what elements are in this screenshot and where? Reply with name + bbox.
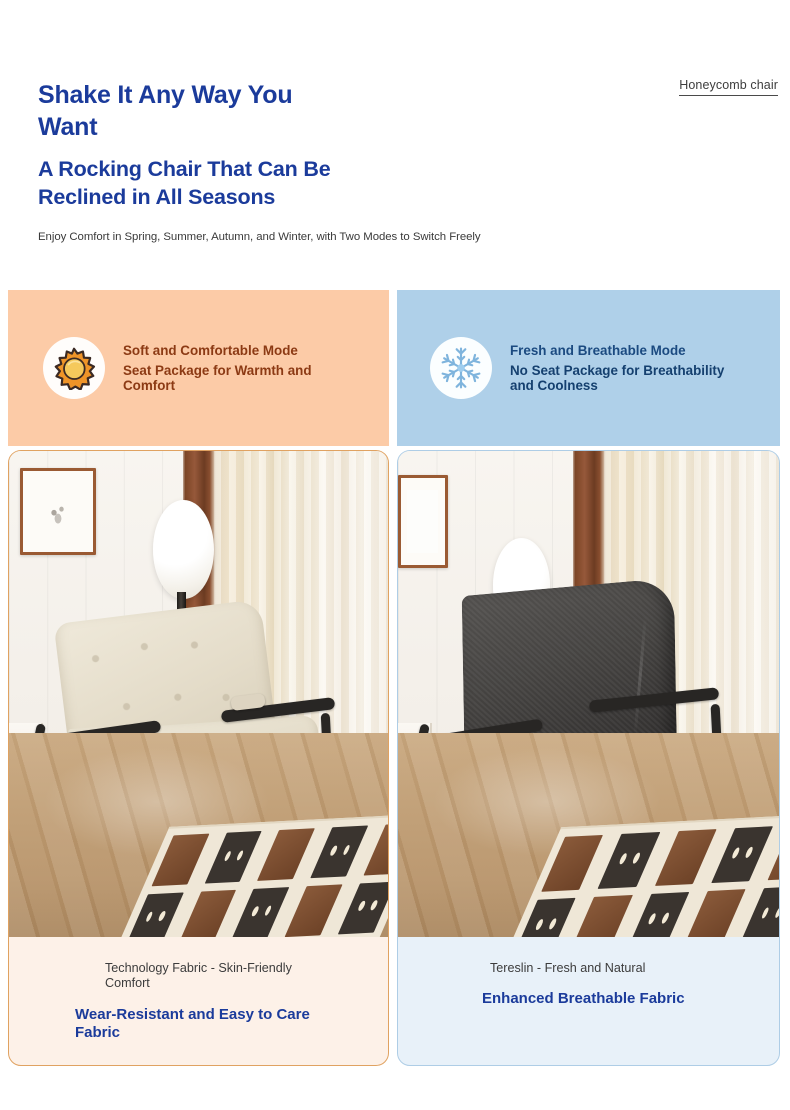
caption-title: Enhanced Breathable Fabric bbox=[482, 990, 712, 1008]
rug-tile bbox=[232, 887, 290, 937]
rug-tile bbox=[711, 827, 773, 884]
mode-text-warm: Soft and Comfortable Mode Seat Package f… bbox=[123, 343, 338, 394]
rug-tile bbox=[598, 832, 660, 889]
product-photo-mesh bbox=[398, 451, 779, 937]
rug-tile bbox=[627, 893, 689, 937]
mode-banner-group: Soft and Comfortable Mode Seat Package f… bbox=[0, 290, 790, 446]
rug-tile bbox=[364, 824, 388, 877]
caption-title: Wear-Resistant and Easy to Care Fabric bbox=[75, 1006, 335, 1042]
rug-tile bbox=[571, 895, 633, 937]
product-photo-cushioned bbox=[9, 451, 388, 937]
rug-tile bbox=[311, 826, 369, 879]
page-tagline: Enjoy Comfort in Spring, Summer, Autumn,… bbox=[38, 231, 481, 243]
rug-tile bbox=[740, 887, 779, 937]
page-title: Shake It Any Way You Want bbox=[38, 80, 338, 143]
card-caption-cushioned: Technology Fabric - Skin-Friendly Comfor… bbox=[9, 937, 388, 1066]
sun-icon bbox=[52, 346, 96, 390]
snowflake-icon bbox=[438, 345, 484, 391]
rug-tile bbox=[684, 890, 746, 937]
mode-banner-warm: Soft and Comfortable Mode Seat Package f… bbox=[8, 290, 389, 446]
caption-subtitle: Tereslin - Fresh and Natural bbox=[490, 961, 680, 976]
product-card-cushioned[interactable]: Technology Fabric - Skin-Friendly Comfor… bbox=[8, 450, 389, 1066]
rug-tile bbox=[179, 890, 237, 937]
rug-tile bbox=[285, 885, 343, 937]
rug-tile bbox=[338, 882, 388, 935]
card-caption-mesh: Tereslin - Fresh and Natural Enhanced Br… bbox=[398, 937, 779, 1066]
mode-title: Soft and Comfortable Mode bbox=[123, 343, 303, 358]
snowflake-icon-badge bbox=[430, 337, 492, 399]
mode-title: Fresh and Breathable Mode bbox=[510, 343, 690, 358]
mesh-fold bbox=[633, 615, 646, 736]
page-header: Honeycomb chair Shake It Any Way You Wan… bbox=[0, 0, 790, 288]
rug-tile bbox=[655, 829, 717, 886]
brand-tag: Honeycomb chair bbox=[679, 78, 778, 96]
sun-icon-badge bbox=[43, 337, 105, 399]
rug-tile bbox=[258, 829, 316, 882]
headline-block: Shake It Any Way You Want A Rocking Chai… bbox=[38, 80, 458, 211]
product-card-mesh[interactable]: Tereslin - Fresh and Natural Enhanced Br… bbox=[397, 450, 780, 1066]
mode-text-cool: Fresh and Breathable Mode No Seat Packag… bbox=[510, 343, 740, 394]
page-subtitle: A Rocking Chair That Can Be Reclined in … bbox=[38, 156, 408, 211]
mode-banner-cool: Fresh and Breathable Mode No Seat Packag… bbox=[397, 290, 780, 446]
mode-description: Seat Package for Warmth and Comfort bbox=[123, 363, 338, 394]
caption-subtitle: Technology Fabric - Skin-Friendly Comfor… bbox=[105, 961, 295, 992]
product-card-group: Technology Fabric - Skin-Friendly Comfor… bbox=[0, 450, 790, 1066]
mode-description: No Seat Package for Breathability and Co… bbox=[510, 363, 740, 394]
product-detail-page: Honeycomb chair Shake It Any Way You Wan… bbox=[0, 0, 790, 1110]
rug-tile bbox=[205, 832, 263, 885]
rug-tile-grid bbox=[126, 824, 388, 937]
